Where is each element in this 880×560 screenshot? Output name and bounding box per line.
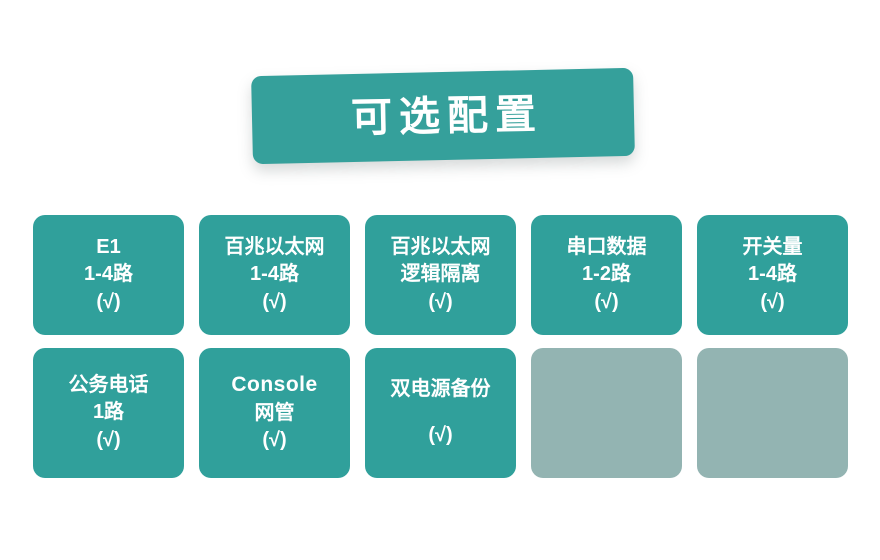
- card-title: 公务电话: [69, 372, 149, 400]
- card-row-2: 公务电话 1路 (√) Console 网管 (√) 双电源备份 (√): [33, 348, 848, 478]
- card-check-mark: (√): [428, 289, 452, 317]
- card-check-mark: (√): [594, 289, 618, 317]
- card-title: 串口数据: [567, 234, 647, 262]
- card-subtitle: 1-4路: [250, 261, 299, 289]
- card-switch-quantity[interactable]: 开关量 1-4路 (√): [697, 215, 848, 335]
- section-banner: 可选配置: [251, 68, 635, 164]
- card-dual-power-backup[interactable]: 双电源备份 (√): [365, 348, 516, 478]
- card-empty-placeholder-2: [697, 348, 848, 478]
- card-fast-ethernet-logical-isolation[interactable]: 百兆以太网 逻辑隔离 (√): [365, 215, 516, 335]
- card-subtitle: 逻辑隔离: [401, 261, 481, 289]
- option-card-grid: E1 1-4路 (√) 百兆以太网 1-4路 (√) 百兆以太网 逻辑隔离 (√…: [33, 215, 848, 478]
- card-empty-placeholder-1: [531, 348, 682, 478]
- page-title: 可选配置: [343, 94, 543, 139]
- card-console-management[interactable]: Console 网管 (√): [199, 348, 350, 478]
- card-title: E1: [96, 234, 120, 262]
- card-official-telephone[interactable]: 公务电话 1路 (√): [33, 348, 184, 478]
- card-row-1: E1 1-4路 (√) 百兆以太网 1-4路 (√) 百兆以太网 逻辑隔离 (√…: [33, 215, 848, 335]
- card-check-mark: (√): [262, 427, 286, 455]
- card-serial-data[interactable]: 串口数据 1-2路 (√): [531, 215, 682, 335]
- card-subtitle: 1-4路: [84, 261, 133, 289]
- card-e1[interactable]: E1 1-4路 (√): [33, 215, 184, 335]
- card-check-mark: (√): [96, 427, 120, 455]
- card-check-mark: (√): [760, 289, 784, 317]
- card-title: 双电源备份: [391, 376, 491, 404]
- card-title: 开关量: [743, 234, 803, 262]
- card-subtitle: 1-2路: [582, 261, 631, 289]
- card-title: 百兆以太网: [391, 234, 491, 262]
- card-check-mark: (√): [428, 422, 452, 450]
- card-subtitle: 1路: [93, 399, 124, 427]
- card-subtitle: 1-4路: [748, 261, 797, 289]
- card-check-mark: (√): [96, 289, 120, 317]
- card-subtitle: 网管: [255, 400, 295, 428]
- card-title: 百兆以太网: [225, 234, 325, 262]
- card-fast-ethernet[interactable]: 百兆以太网 1-4路 (√): [199, 215, 350, 335]
- card-check-mark: (√): [262, 289, 286, 317]
- card-title: Console: [231, 371, 317, 400]
- banner-area: 可选配置: [0, 0, 880, 195]
